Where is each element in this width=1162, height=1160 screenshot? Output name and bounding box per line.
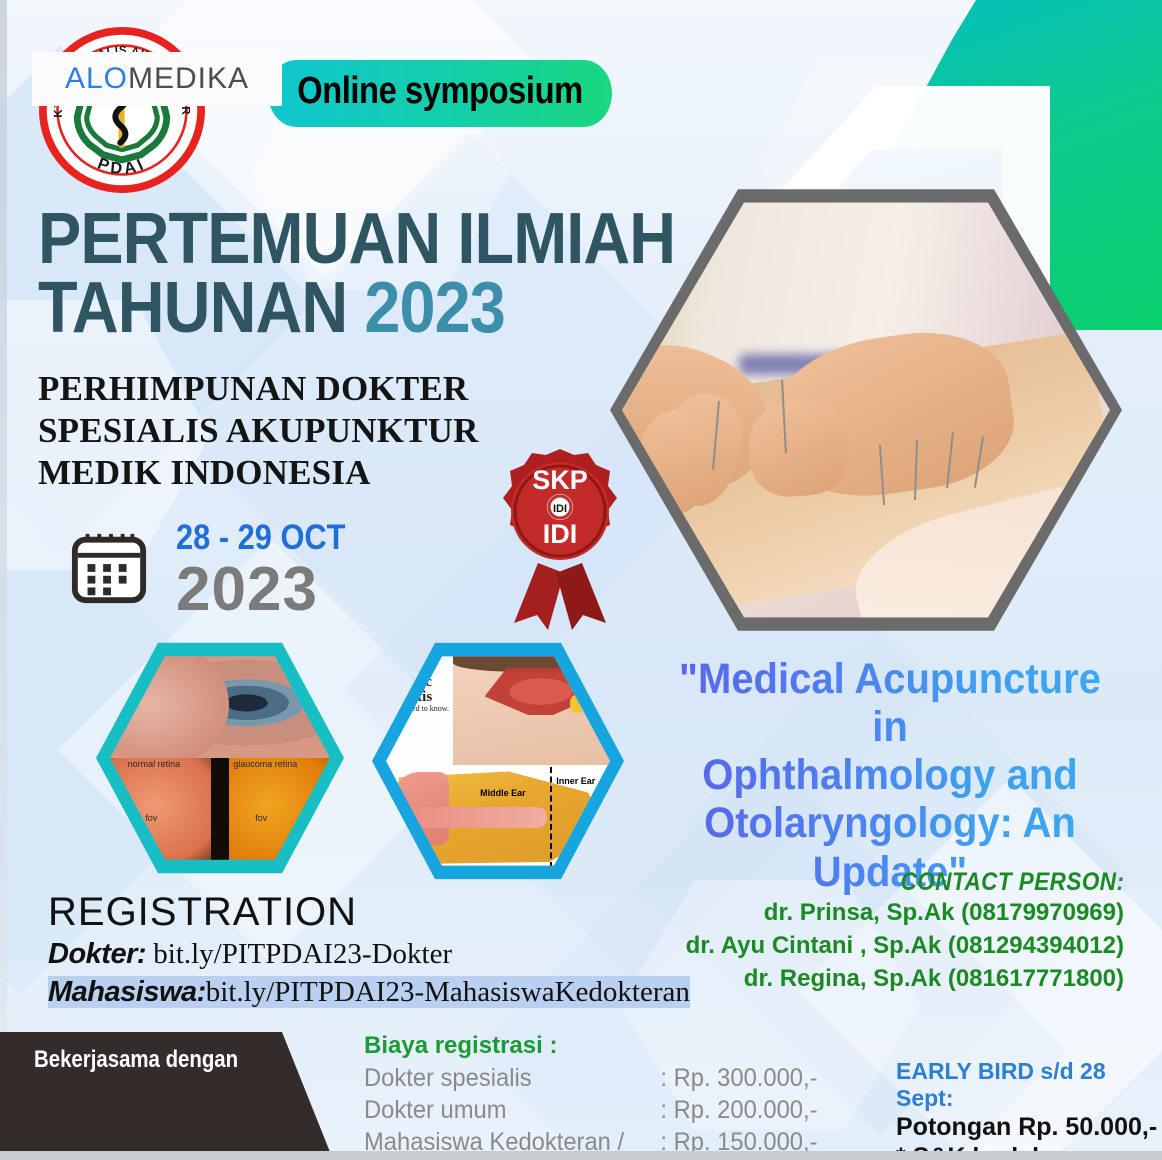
contact-person-block: CONTACT PERSON: dr. Prinsa, Sp.Ak (08179… xyxy=(686,868,1124,996)
subtitle-line-3: MEDIK INDONESIA xyxy=(38,452,479,494)
alomedika-logo-medika: MEDIKA xyxy=(128,62,249,96)
event-date-range: 28 - 29 OCT xyxy=(176,518,345,558)
event-poster: PERHIMPUNAN DOKTER SPESIALIS AKUPUNKTUR … xyxy=(0,0,1162,1160)
title-year: 2023 xyxy=(364,268,505,348)
event-date-year: 2023 xyxy=(176,554,318,625)
fee-row: Dokter umum : Rp. 200.000,- xyxy=(364,1094,818,1126)
organization-subtitle: PERHIMPUNAN DOKTER SPESIALIS AKUPUNKTUR … xyxy=(38,368,479,494)
contact-person-1: dr. Prinsa, Sp.Ak (08179970969) xyxy=(686,897,1124,930)
title-line-1: PERTEMUAN ILMIAH xyxy=(38,205,675,274)
registration-fees: Biaya registrasi : Dokter spesialis : Rp… xyxy=(364,1032,841,1160)
contact-person-2: dr. Ayu Cintani , Sp.Ak (081294394012) xyxy=(686,930,1124,963)
bottom-strip xyxy=(0,1151,1162,1160)
subtitle-line-2: SPESIALIS AKUPUNKTUR xyxy=(38,410,479,452)
subtitle-line-1: PERHIMPUNAN DOKTER xyxy=(38,368,479,410)
skp-idi-seal: SKP IDI IDI xyxy=(490,445,630,630)
symposium-theme: "Medical Acupuncture in Ophthalmology an… xyxy=(658,655,1123,896)
page-title: PERTEMUAN ILMIAH TAHUNAN 2023 xyxy=(38,205,746,343)
svg-text:IDI: IDI xyxy=(553,503,567,515)
left-edge-strip xyxy=(0,0,7,1160)
fee-name: Dokter umum xyxy=(364,1094,660,1126)
fee-value: : Rp. 300.000,- xyxy=(660,1062,817,1094)
contact-person-3: dr. Regina, Sp.Ak (081617771800) xyxy=(686,963,1124,996)
eye-label-fovea-left: fov xyxy=(145,813,157,823)
registration-label-dokter: Dokter: xyxy=(48,938,146,970)
early-bird-heading: EARLY BIRD s/d 28 Sept: xyxy=(896,1058,1162,1112)
partner-heading: Bekerjasama dengan xyxy=(34,1046,238,1074)
theme-line-2: Ophthalmology and xyxy=(658,751,1123,799)
fee-name: Dokter spesialis xyxy=(364,1062,660,1094)
registration-label-mahasiswa: Mahasiswa: xyxy=(48,976,206,1008)
calendar-icon xyxy=(70,528,148,604)
registration-row-mahasiswa[interactable]: Mahasiswa:bit.ly/PITPDAI23-MahasiswaKedo… xyxy=(48,976,690,1009)
pdai-logo: PERHIMPUNAN DOKTER SPESIALIS AKUPUNKTUR … xyxy=(36,24,208,196)
title-line-2-text: TAHUNAN xyxy=(38,268,364,348)
registration-row-dokter[interactable]: Dokter: bit.ly/PITPDAI23-Dokter xyxy=(48,938,452,971)
early-bird-block: EARLY BIRD s/d 28 Sept: Potongan Rp. 50.… xyxy=(896,1058,1162,1160)
partner-panel: Bekerjasama dengan xyxy=(0,1032,330,1152)
svg-text:IDI: IDI xyxy=(543,519,578,549)
ent-label-middle-ear: Middle Ear xyxy=(480,788,526,798)
early-bird-discount: Potongan Rp. 50.000,- xyxy=(896,1112,1162,1142)
alomedika-logo: ALOMEDIKA xyxy=(32,52,282,106)
svg-text:SKP: SKP xyxy=(532,465,588,495)
eye-label-normal: normal retina xyxy=(128,759,181,769)
eye-label-fovea-right: fov xyxy=(255,813,267,823)
title-line-2: TAHUNAN 2023 xyxy=(38,274,675,343)
online-symposium-badge: Online symposium xyxy=(268,60,612,127)
fee-value: : Rp. 200.000,- xyxy=(660,1094,817,1126)
fee-row: Dokter spesialis : Rp. 300.000,- xyxy=(364,1062,818,1094)
alomedika-logo-alo: ALO xyxy=(65,62,128,96)
registration-url-mahasiswa[interactable]: bit.ly/PITPDAI23-MahasiswaKedokteran xyxy=(206,976,690,1008)
registration-heading: REGISTRATION xyxy=(48,890,357,935)
eye-label-glaucoma: glaucoma retina xyxy=(233,759,297,769)
ent-label-inner-ear: Inner Ear xyxy=(556,776,595,786)
fees-heading: Biaya registrasi : xyxy=(364,1032,841,1060)
registration-url-dokter[interactable]: bit.ly/PITPDAI23-Dokter xyxy=(153,938,452,970)
theme-line-1: "Medical Acupuncture in xyxy=(658,655,1123,751)
contact-heading: CONTACT PERSON: xyxy=(729,868,1124,897)
